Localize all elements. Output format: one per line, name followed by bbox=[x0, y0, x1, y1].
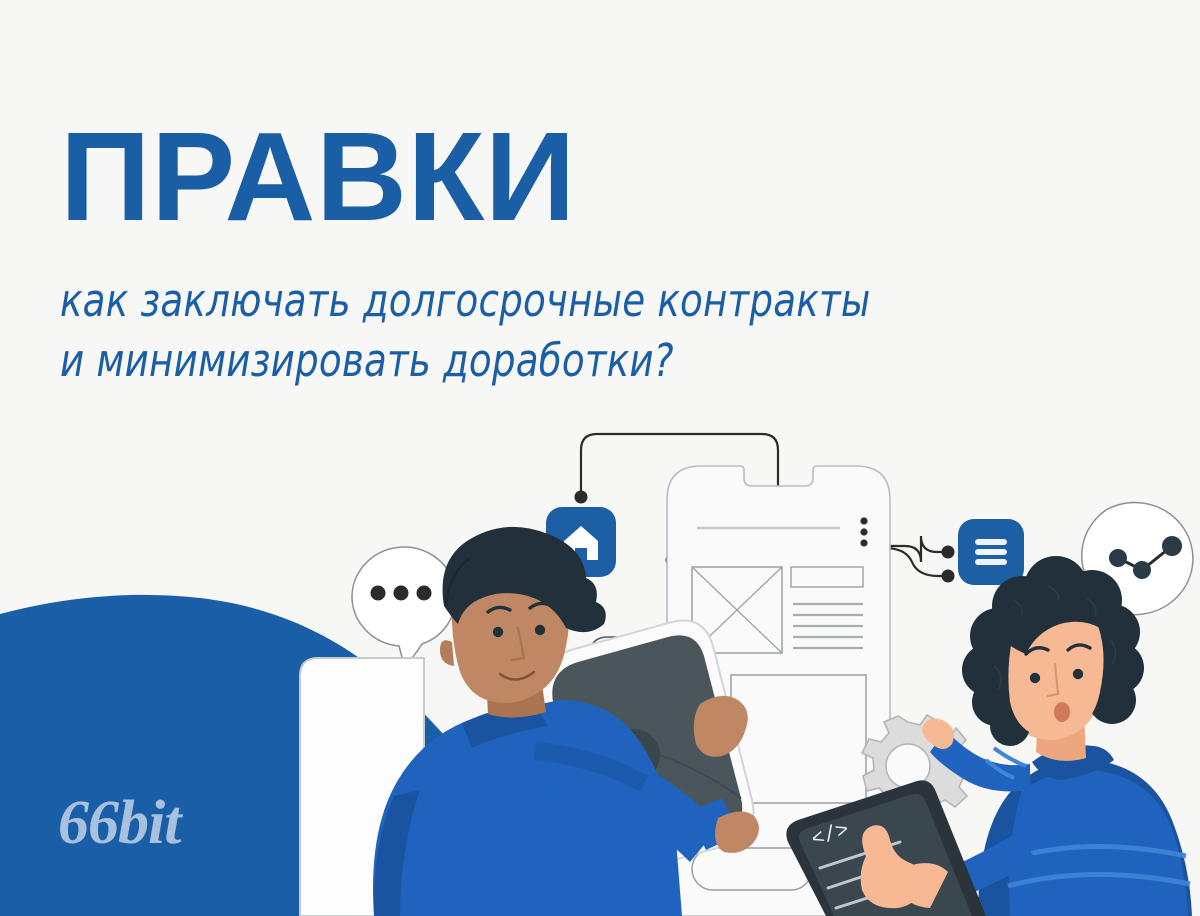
held-tablet bbox=[540, 621, 753, 876]
secondary-panel-outline bbox=[590, 637, 660, 916]
code-symbol: </> bbox=[809, 819, 852, 853]
hair bbox=[443, 527, 606, 632]
phone-mockup bbox=[667, 466, 890, 916]
subtitle-line-2: и минимизировать доработки? bbox=[60, 331, 1035, 390]
hamburger-menu-icon bbox=[975, 539, 1007, 565]
three-dots-icon bbox=[371, 586, 386, 601]
subtitle-line-1: как заключать долгосрочные контракты bbox=[60, 271, 1035, 330]
connector-lines bbox=[575, 434, 955, 562]
page-title: ПРАВКИ bbox=[60, 118, 1120, 235]
connector-line-right bbox=[884, 548, 955, 583]
character-woman bbox=[922, 556, 1192, 916]
connector-line-left-lower bbox=[666, 554, 701, 567]
code-tablet: </> bbox=[786, 780, 986, 916]
home-icon-card[interactable] bbox=[546, 507, 616, 577]
home-icon bbox=[564, 526, 598, 560]
analytics-bubble bbox=[1082, 503, 1193, 615]
poster-canvas: </> ПРАВКИ как заключать долгосрочные ко… bbox=[0, 0, 1200, 916]
page-subtitle: как заключать долгосрочные контракты и м… bbox=[60, 271, 1035, 390]
menu-icon-card[interactable] bbox=[958, 519, 1024, 585]
hair bbox=[962, 556, 1144, 746]
gear-icon bbox=[862, 715, 976, 818]
character-man bbox=[300, 527, 759, 916]
typing-bubble bbox=[352, 547, 456, 668]
line-chart-nodes-icon bbox=[1109, 536, 1182, 579]
brand-logo: 66bit bbox=[58, 792, 180, 854]
headline-block: ПРАВКИ как заключать долгосрочные контра… bbox=[60, 118, 1120, 390]
